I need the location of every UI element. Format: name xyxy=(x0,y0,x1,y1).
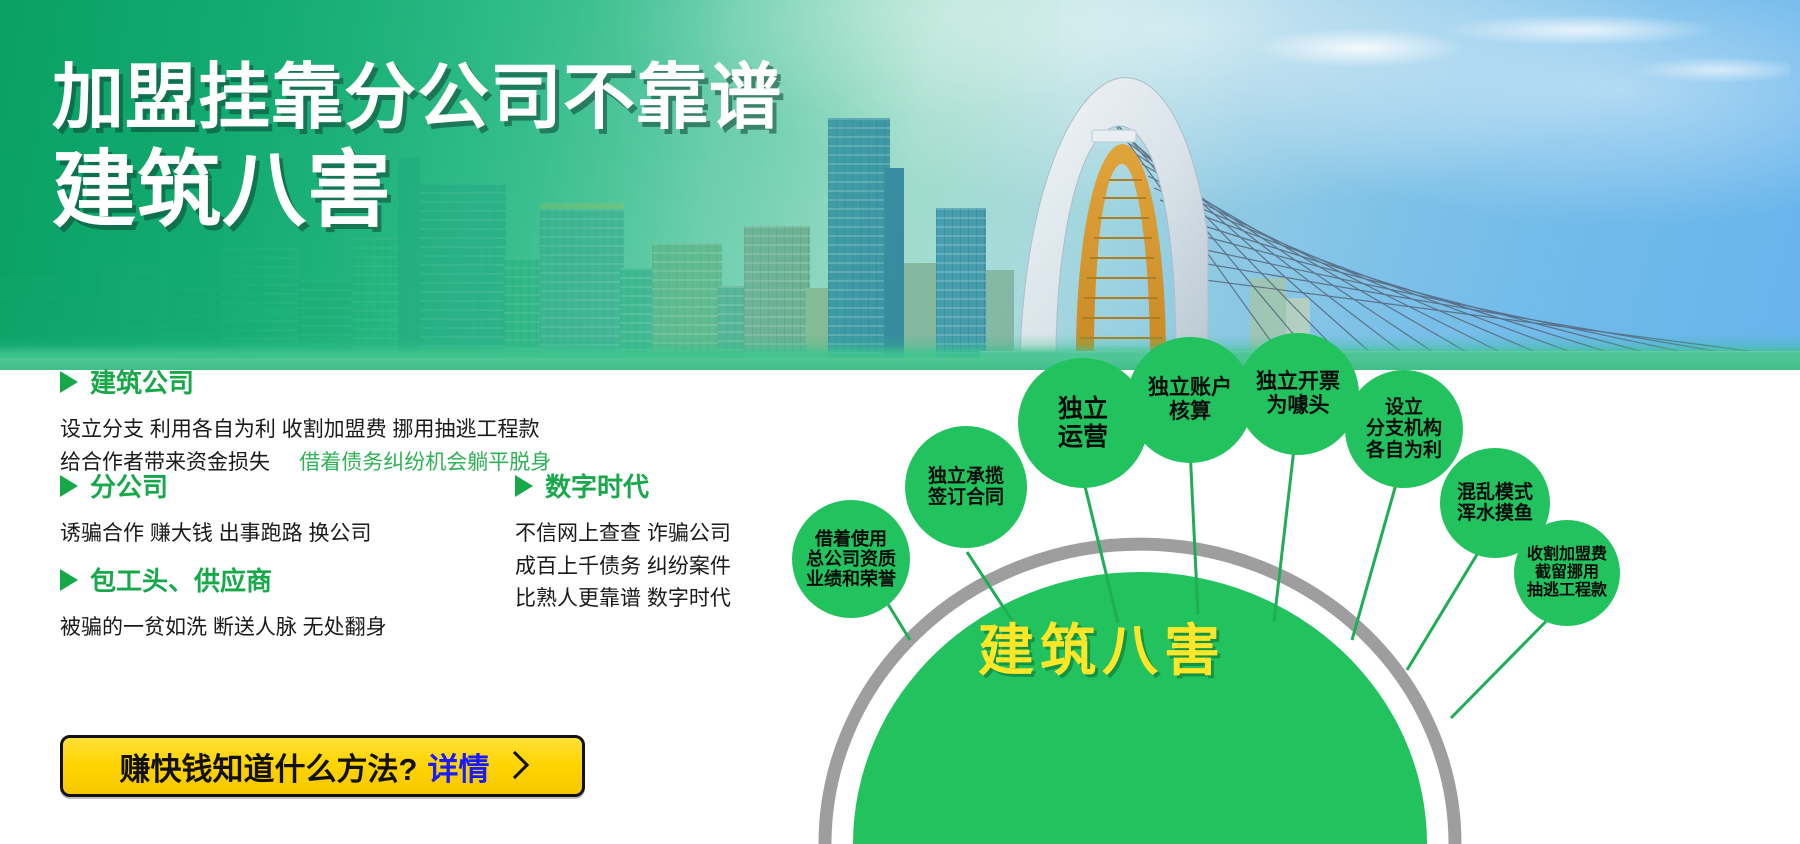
section-branch-company: 分公司 诱骗合作 赚大钱 出事跑路 换公司 xyxy=(60,467,372,551)
bubble-item[interactable]: 借着使用 总公司资质 业绩和荣誉 xyxy=(792,500,910,618)
section-body-line: 不信网上查查 诈骗公司 xyxy=(515,518,731,551)
section-body: 被骗的一贫如洗 断送人脉 无处翻身 xyxy=(60,612,387,645)
hero-banner: 加盟挂靠分公司不靠谱 建筑八害 xyxy=(0,0,1800,370)
section-title: 数字时代 xyxy=(545,467,649,504)
triangle-bullet-icon xyxy=(60,371,78,393)
bubble-item[interactable]: 独立承揽 签订合同 xyxy=(905,426,1027,548)
cta-details-link[interactable]: 详情 xyxy=(427,744,489,789)
headline-line-1: 加盟挂靠分公司不靠谱 xyxy=(52,62,782,134)
bubble-item[interactable]: 独立账户 核算 xyxy=(1127,337,1253,463)
hero-headline: 加盟挂靠分公司不靠谱 建筑八害 xyxy=(52,62,782,232)
section-title: 分公司 xyxy=(90,467,168,504)
section-body-line: 被骗的一贫如洗 断送人脉 无处翻身 xyxy=(60,612,387,645)
triangle-bullet-icon xyxy=(60,475,78,497)
section-heading: 分公司 xyxy=(60,467,372,504)
section-body-line: 设立分支 利用各自为利 收割加盟费 挪用抽逃工程款 xyxy=(60,414,551,447)
chevron-right-icon xyxy=(501,751,529,779)
bubble-item[interactable]: 独立 运营 xyxy=(1018,358,1148,488)
section-title: 包工头、供应商 xyxy=(90,561,272,598)
section-heading: 数字时代 xyxy=(515,467,731,504)
section-body-line: 诱骗合作 赚大钱 出事跑路 换公司 xyxy=(60,518,372,551)
section-heading: 包工头、供应商 xyxy=(60,561,387,598)
bubble-item[interactable]: 独立开票 为噱头 xyxy=(1237,333,1359,455)
cta-button[interactable]: 赚快钱知道什么方法? 详情 xyxy=(60,735,585,797)
dome-center-label: 建筑八害 xyxy=(978,606,1226,687)
section-contractor-supplier: 包工头、供应商 被骗的一贫如洗 断送人脉 无处翻身 xyxy=(60,561,387,645)
triangle-bullet-icon xyxy=(515,475,533,497)
bazhai-diagram: 借着使用 总公司资质 业绩和荣誉 独立承揽 签订合同 独立 运营 独立账户 核算… xyxy=(800,340,1800,844)
cta-button-label: 赚快钱知道什么方法? xyxy=(120,744,418,789)
bridge-illustration xyxy=(980,68,1800,358)
section-construction-company: 建筑公司 设立分支 利用各自为利 收割加盟费 挪用抽逃工程款 给合作者带来资金损… xyxy=(60,363,551,479)
bubble-item[interactable]: 设立 分支机构 各自为利 xyxy=(1345,370,1463,488)
section-digital-era: 数字时代 不信网上查查 诈骗公司 成百上千债务 纠纷案件 比熟人更靠谱 数字时代 xyxy=(515,467,731,616)
triangle-bullet-icon xyxy=(60,569,78,591)
section-heading: 建筑公司 xyxy=(60,363,551,400)
headline-line-2: 建筑八害 xyxy=(52,148,782,232)
section-body-line: 比熟人更靠谱 数字时代 xyxy=(515,583,731,616)
bubble-item[interactable]: 收割加盟费 截留挪用 抽逃工程款 xyxy=(1514,520,1620,626)
section-body: 不信网上查查 诈骗公司 成百上千债务 纠纷案件 比熟人更靠谱 数字时代 xyxy=(515,518,731,616)
section-body-line: 成百上千债务 纠纷案件 xyxy=(515,551,731,584)
section-body: 诱骗合作 赚大钱 出事跑路 换公司 xyxy=(60,518,372,551)
section-title: 建筑公司 xyxy=(90,363,194,400)
